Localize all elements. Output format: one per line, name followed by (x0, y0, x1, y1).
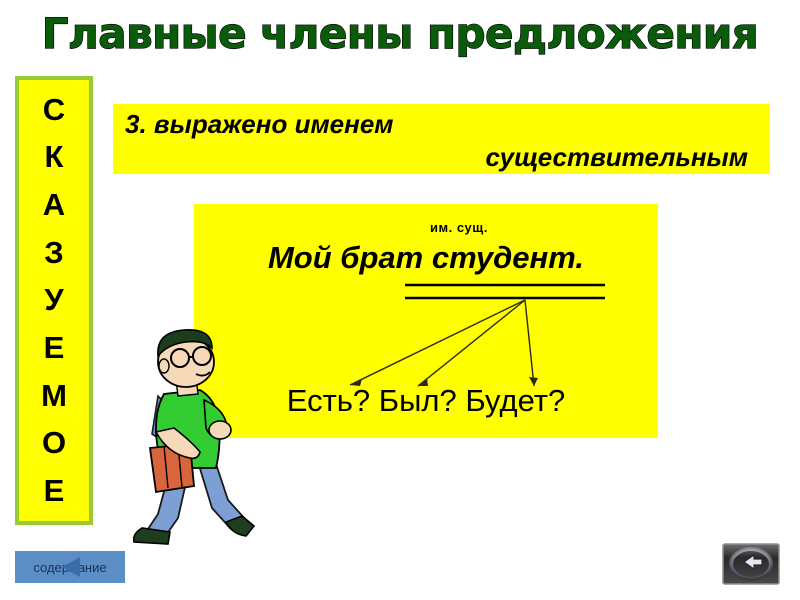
part-of-speech-label: им. сущ. (430, 220, 488, 235)
vertical-letter: Е (44, 475, 65, 507)
vertical-letter: М (41, 380, 67, 412)
student-clipart (112, 322, 258, 550)
example-panel: им. сущ. Мой брат студент. Есть? Был? Бу… (194, 204, 658, 438)
page-title: Главные члены предложения (0, 8, 800, 60)
arrow-line-1 (350, 300, 525, 385)
vertical-letter: К (45, 141, 64, 173)
vertical-letter: З (44, 237, 63, 269)
sentence-predicate: студент. (432, 240, 584, 275)
example-sentence: Мой брат студент. (200, 238, 652, 278)
vertical-letter: С (43, 94, 65, 126)
rule-line-1: 3. выражено именем (125, 108, 758, 141)
contents-button[interactable]: содержание (15, 551, 125, 583)
rule-banner: 3. выражено именем существительным (113, 104, 770, 174)
rule-line-2: существительным (125, 141, 758, 174)
tense-questions: Есть? Был? Будет? (194, 382, 658, 420)
vertical-letter: А (43, 189, 65, 221)
arrow-line-2 (418, 300, 525, 386)
vertical-letter: Е (44, 332, 65, 364)
vertical-word-skazuemoe-box: С К А З У Е М О Е (15, 76, 93, 525)
vertical-letter: У (44, 284, 63, 316)
sentence-subject: Мой брат (268, 240, 432, 275)
triangle-left-icon (62, 557, 80, 577)
arrow-line-3 (525, 300, 534, 386)
back-button[interactable] (722, 543, 780, 585)
vertical-letter: О (42, 427, 66, 459)
